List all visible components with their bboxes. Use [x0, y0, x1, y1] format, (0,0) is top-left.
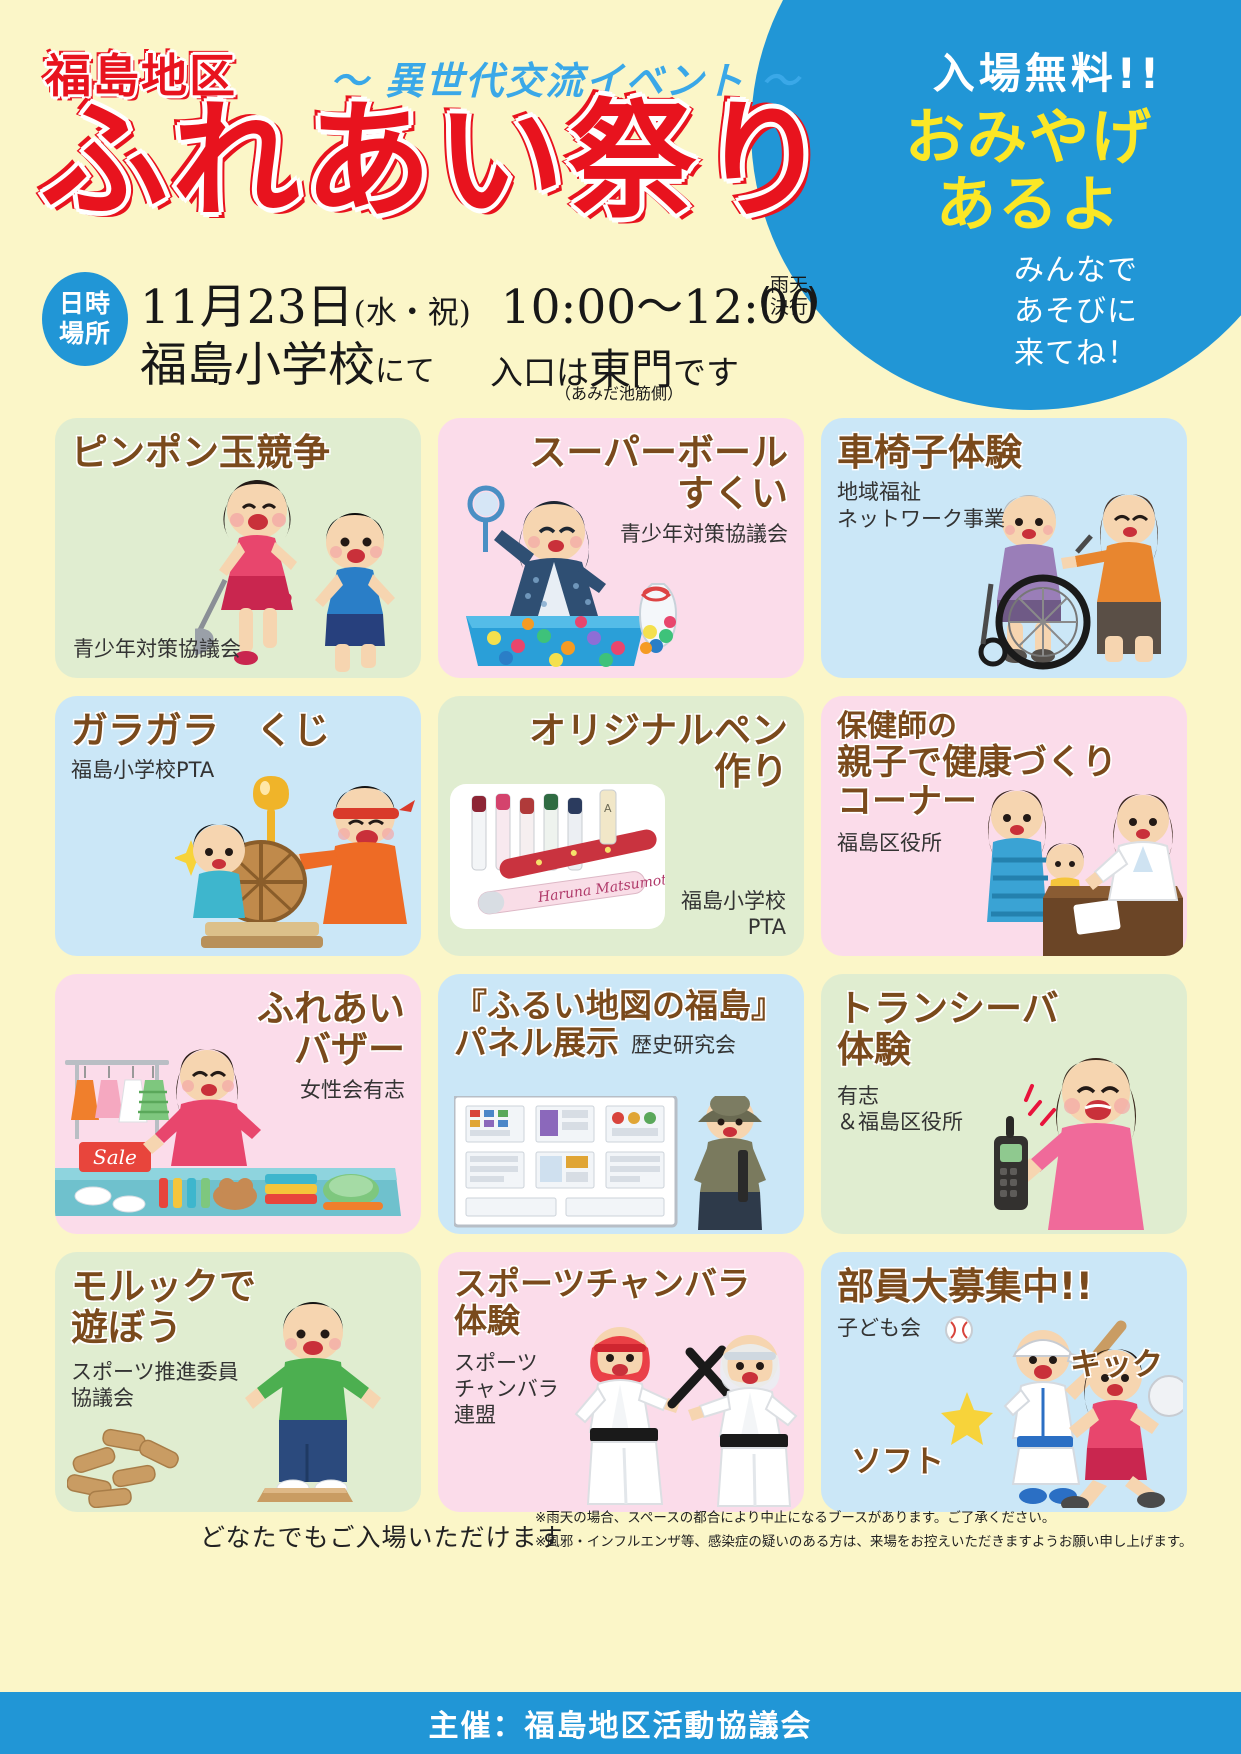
activity-title: 部員大募集中!!: [837, 1266, 1171, 1307]
activity-organizer: 青少年対策協議会: [73, 636, 241, 662]
activity-title-line-1: スーパーボール: [529, 431, 788, 474]
event-place: 福島小学校にて: [140, 326, 435, 395]
activity-title-line-2: すくい: [677, 472, 788, 515]
activity-title: トランシーバ 体験: [837, 988, 1171, 1071]
event-place-suffix: にて: [375, 354, 435, 389]
molkky-pins-illustration: [67, 1422, 237, 1508]
footer-disclaimer-line-1: ※雨天の場合、スペースの都合により中止になるブースがあります。ご了承ください。: [535, 1507, 1193, 1531]
activity-title: スポーツチャンバラ 体験: [454, 1266, 788, 1340]
activity-organizer: 子ども会: [837, 1315, 1171, 1341]
activity-title: スーパーボール すくい: [454, 432, 788, 515]
activity-title-line-2: パネル展示: [454, 1025, 619, 1062]
activity-title-line-1: オリジナルペン: [529, 709, 788, 752]
activity-title: ガラガラ くじ: [71, 710, 405, 751]
activity-card[interactable]: トランシーバ 体験 有志＆福島区役所: [821, 974, 1187, 1234]
activity-title-line-2: 体験: [837, 1028, 911, 1071]
activity-title: 車椅子体験: [837, 432, 1171, 473]
activity-organizer: 有志＆福島区役所: [837, 1083, 1171, 1136]
activity-title-line-1: ふれあい: [257, 987, 405, 1030]
bazaar-stall-illustration: Sale: [55, 1046, 415, 1218]
free-admission-label: 入場無料!!: [933, 40, 1163, 101]
activity-title-line-1: 『ふるい地図の福島』: [454, 986, 784, 1025]
club-label-soft: ソフト: [851, 1445, 944, 1480]
footer-disclaimer: ※雨天の場合、スペースの都合により中止になるブースがあります。ご了承ください。 …: [535, 1507, 1193, 1554]
activity-title: モルックで 遊ぼう: [71, 1266, 405, 1349]
activity-title-line-2: バザー: [294, 1028, 405, 1071]
lottery-drum-illustration: [175, 754, 420, 954]
datetime-badge-line-1: 日時: [59, 289, 111, 320]
activity-title-line-2: 作り: [714, 750, 788, 793]
activity-title-line-1: トランシーバ: [837, 987, 1059, 1030]
footer-disclaimer-line-2: ※風邪・インフルエンザ等、感染症の疑いのある方は、来場をお控えいただきますようお…: [535, 1531, 1193, 1555]
activity-organizer: 女性会有志: [71, 1077, 405, 1103]
activity-title: 『ふるい地図の福島』: [454, 988, 788, 1025]
activity-title-line-1: スポーツチャンバラ: [454, 1264, 750, 1303]
activity-card[interactable]: 車椅子体験 地域福祉ネットワーク事業: [821, 418, 1187, 678]
activity-card-grid: ピンポン玉競争 青少年対策協議会: [55, 418, 1187, 1512]
page-title: ふれあい祭り: [40, 95, 832, 229]
activity-title: ふれあい バザー: [71, 988, 405, 1071]
activity-card[interactable]: スポーツチャンバラ 体験 スポーツチャンバラ連盟: [438, 1252, 804, 1512]
custom-pens-photo: Haruna Matsumoto A: [450, 784, 665, 929]
activity-title: 保健師の 親子で健康づくり コーナー: [837, 710, 1171, 822]
activity-card[interactable]: オリジナルペン 作り 福島小学校PTA: [438, 696, 804, 956]
activity-organizer: スポーツ推進委員協議会: [71, 1359, 405, 1412]
activity-title-line-1: モルックで: [71, 1265, 256, 1308]
activity-title-line-3: コーナー: [837, 782, 977, 822]
rain-notice-line-2: 決行: [770, 296, 808, 318]
svg-text:A: A: [604, 802, 612, 815]
rain-notice-line-1: 雨天: [770, 274, 808, 296]
activity-card[interactable]: ピンポン玉競争 青少年対策協議会: [55, 418, 421, 678]
svg-text:Sale: Sale: [93, 1145, 137, 1169]
datetime-badge: 日時 場所: [42, 272, 128, 366]
flyer-header: 福島地区 〜 異世代交流イベント 〜 ふれあい祭り 入場無料!! おみやげ ある…: [0, 0, 1241, 410]
activity-card[interactable]: スーパーボール すくい 青少年対策協議会: [438, 418, 804, 678]
activity-organizer: 青少年対策協議会: [454, 521, 788, 547]
map-panel-exhibition-illustration: [454, 1096, 804, 1231]
activity-organizer: 歴史研究会: [631, 1032, 736, 1058]
activity-organizer: 福島小学校PTA: [71, 757, 405, 783]
activity-organizer: 福島区役所: [837, 830, 1171, 856]
activity-card[interactable]: モルックで 遊ぼう スポーツ推進委員協議会: [55, 1252, 421, 1512]
activity-card[interactable]: 『ふるい地図の福島』 パネル展示 歴史研究会: [438, 974, 804, 1234]
activity-card[interactable]: 部員大募集中!! 子ども会 キック ソフト: [821, 1252, 1187, 1512]
entrance-gate-note: （あみだ池筋側）: [555, 380, 683, 404]
activity-organizer: 福島小学校PTA: [681, 888, 786, 941]
activity-organizer: スポーツチャンバラ連盟: [454, 1350, 788, 1429]
activity-card[interactable]: ふれあい バザー 女性会有志: [55, 974, 421, 1234]
souvenir-line-1: おみやげ: [905, 103, 1153, 173]
souvenir-label: おみやげ あるよ: [879, 105, 1179, 239]
club-label-kick: キック: [1070, 1348, 1163, 1383]
anyone-welcome-note: どなたでもご入場いただけます: [200, 1518, 564, 1554]
event-place-name: 福島小学校: [140, 338, 375, 393]
activity-title: ピンポン玉競争: [71, 432, 405, 473]
activity-title-line-1: 保健師の: [837, 709, 957, 744]
activity-organizer: 地域福祉ネットワーク事業: [837, 479, 1171, 532]
activity-title: オリジナルペン 作り: [454, 710, 788, 793]
flyer-page: 福島地区 〜 異世代交流イベント 〜 ふれあい祭り 入場無料!! おみやげ ある…: [0, 0, 1241, 1754]
activity-title-line-2: 親子で健康づくり: [837, 743, 1117, 783]
activity-card[interactable]: 保健師の 親子で健康づくり コーナー 福島区役所: [821, 696, 1187, 956]
organizer-label: 主催：福島地区活動協議会: [429, 1701, 813, 1745]
come-play-message: みんなであそびに来てね！: [981, 250, 1171, 374]
souvenir-line-2: あるよ: [879, 172, 1179, 239]
datetime-badge-line-2: 場所: [59, 319, 111, 350]
activity-card[interactable]: ガラガラ くじ 福島小学校PTA: [55, 696, 421, 956]
organizer-bar: 主催：福島地区活動協議会: [0, 1692, 1241, 1754]
activity-title-line-2: 体験: [454, 1301, 520, 1340]
rain-notice: 雨天 決行: [770, 275, 808, 319]
activity-title-line-2: 遊ぼう: [71, 1306, 182, 1349]
